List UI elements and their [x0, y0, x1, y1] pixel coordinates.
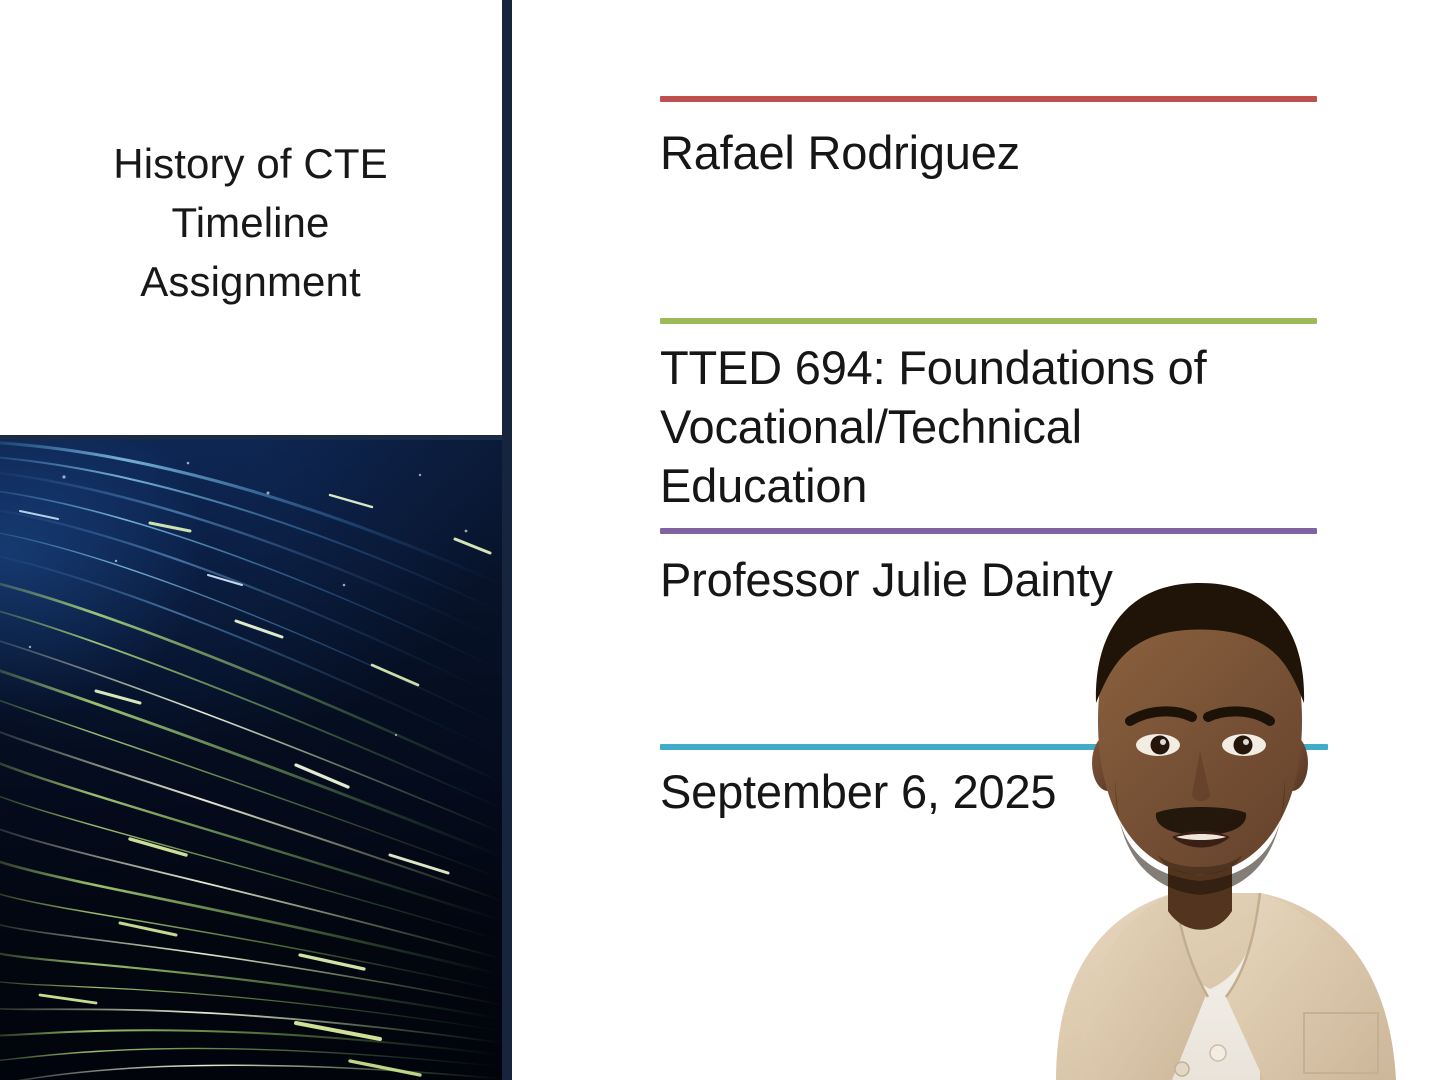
divider-rule-course: [660, 318, 1317, 324]
fiber-streaks-icon: [0, 435, 503, 1080]
title-line-3: Assignment: [0, 252, 501, 311]
presentation-slide: History of CTE Timeline Assignment: [0, 0, 1440, 1080]
presenter-video-overlay[interactable]: [960, 545, 1440, 1080]
divider-rule-author: [660, 96, 1317, 102]
presenter-portrait-icon: [960, 545, 1440, 1080]
fiber-image-top-edge: [0, 435, 503, 440]
divider-rule-instructor: [660, 528, 1317, 534]
author-name: Rafael Rodriguez: [660, 123, 1360, 183]
slide-left-column: History of CTE Timeline Assignment: [0, 0, 501, 1080]
fiber-optic-decorative-image: [0, 435, 503, 1080]
navy-accent-strip: [502, 0, 512, 1080]
title-line-2: Timeline: [0, 193, 501, 252]
course-title: TTED 694: Foundations of Vocational/Tech…: [660, 338, 1260, 515]
title-line-1: History of CTE: [0, 134, 501, 193]
page-title: History of CTE Timeline Assignment: [0, 134, 501, 311]
